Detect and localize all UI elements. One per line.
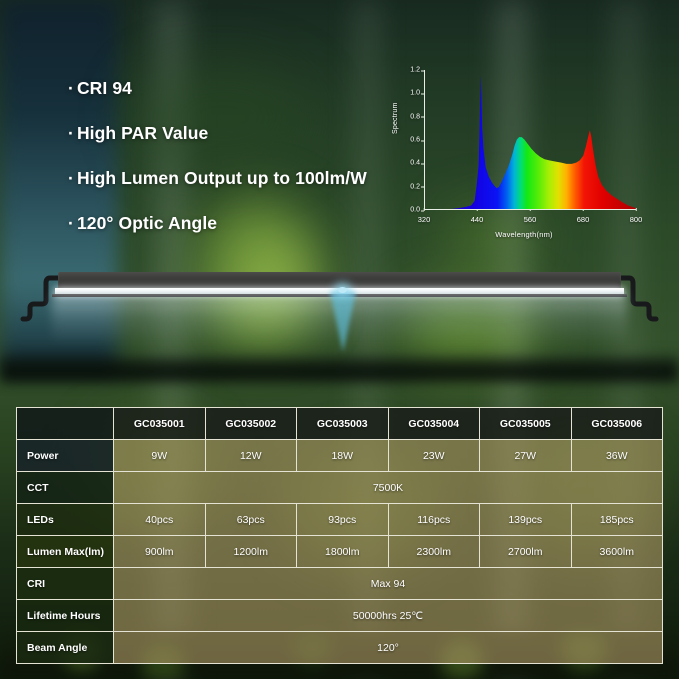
- row-label: Power: [17, 440, 114, 472]
- bullet-dot-icon: ·: [68, 213, 74, 233]
- table-cell-merged: 50000hrs 25℃: [114, 600, 663, 632]
- table-col-header-gc035001: GC035001: [114, 408, 206, 440]
- table-row-leds: LEDs 40pcs 63pcs 93pcs 116pcs 139pcs 185…: [17, 504, 663, 536]
- spectrum-curve: [425, 70, 636, 209]
- table-cell-merged: 120°: [114, 632, 663, 664]
- product-infographic: ·CRI 94 ·High PAR Value ·High Lumen Outp…: [0, 0, 679, 679]
- row-label: CCT: [17, 472, 114, 504]
- light-beam-cone: [330, 292, 356, 352]
- table-header-row: GC035001 GC035002 GC035003 GC035004 GC03…: [17, 408, 663, 440]
- chart-y-tick: 1.2: [410, 67, 420, 74]
- table-cell: 36W: [571, 440, 663, 472]
- specification-table: GC035001 GC035002 GC035003 GC035004 GC03…: [16, 407, 663, 664]
- table-cell: 40pcs: [114, 504, 206, 536]
- row-label: Lumen Max(lm): [17, 536, 114, 568]
- table-row-beam-angle: Beam Angle 120°: [17, 632, 663, 664]
- row-label: Beam Angle: [17, 632, 114, 664]
- feature-text: High Lumen Output up to 100lm/W: [77, 168, 367, 188]
- chart-plot-area: 0.0 0.2 0.4 0.6 0.8 1.0 1.2 320 440 560 …: [424, 70, 636, 210]
- chart-y-axis-label: Spectrum: [392, 102, 399, 134]
- table-row-cri: CRI Max 94: [17, 568, 663, 600]
- chart-x-tick: 560: [524, 215, 537, 224]
- table-cell: 93pcs: [297, 504, 389, 536]
- light-beam-source: [338, 287, 347, 293]
- chart-y-tick: 0.8: [410, 113, 420, 120]
- chart-x-tick: 800: [630, 215, 643, 224]
- table-cell: 23W: [388, 440, 480, 472]
- table-cell: 1800lm: [297, 536, 389, 568]
- chart-x-tick: 680: [577, 215, 590, 224]
- spectrum-chart: Spectrum 0.0 0.2 0.4 0.6 0.8 1.0 1.2 320…: [396, 66, 652, 238]
- chart-y-tick: 0.6: [410, 137, 420, 144]
- table-row-power: Power 9W 12W 18W 23W 27W 36W: [17, 440, 663, 472]
- table-cell: 185pcs: [571, 504, 663, 536]
- table-cell: 63pcs: [205, 504, 297, 536]
- table-cell: 116pcs: [388, 504, 480, 536]
- chart-y-tick: 0.0: [410, 207, 420, 214]
- row-label: Lifetime Hours: [17, 600, 114, 632]
- feature-item-optic-angle: ·120° Optic Angle: [68, 213, 398, 234]
- table-cell: 9W: [114, 440, 206, 472]
- table-cell: 2300lm: [388, 536, 480, 568]
- feature-item-cri: ·CRI 94: [68, 78, 398, 99]
- bullet-dot-icon: ·: [68, 78, 74, 98]
- feature-item-par: ·High PAR Value: [68, 123, 398, 144]
- table-col-header-gc035005: GC035005: [480, 408, 572, 440]
- chart-x-tick: 320: [418, 215, 431, 224]
- table-cell-merged: 7500K: [114, 472, 663, 504]
- feature-item-lumen: ·High Lumen Output up to 100lm/W: [68, 168, 398, 189]
- row-label: CRI: [17, 568, 114, 600]
- table-col-header-gc035002: GC035002: [205, 408, 297, 440]
- chart-y-tick: 1.0: [410, 90, 420, 97]
- bullet-dot-icon: ·: [68, 123, 74, 143]
- table-cell: 12W: [205, 440, 297, 472]
- table-cell: 900lm: [114, 536, 206, 568]
- table-col-header-gc035006: GC035006: [571, 408, 663, 440]
- chart-y-tick: 0.4: [410, 160, 420, 167]
- table-col-header-gc035004: GC035004: [388, 408, 480, 440]
- feature-list: ·CRI 94 ·High PAR Value ·High Lumen Outp…: [68, 78, 398, 258]
- row-label: LEDs: [17, 504, 114, 536]
- table-cell: 2700lm: [480, 536, 572, 568]
- feature-text: 120° Optic Angle: [77, 213, 217, 233]
- feature-text: CRI 94: [77, 78, 132, 98]
- table-cell: 139pcs: [480, 504, 572, 536]
- table-row-lifetime-hours: Lifetime Hours 50000hrs 25℃: [17, 600, 663, 632]
- table-row-lumen-max: Lumen Max(lm) 900lm 1200lm 1800lm 2300lm…: [17, 536, 663, 568]
- table-cell: 18W: [297, 440, 389, 472]
- led-light-bar-fixture: [0, 262, 679, 372]
- table-corner-cell: [17, 408, 114, 440]
- table-cell: 1200lm: [205, 536, 297, 568]
- feature-text: High PAR Value: [77, 123, 208, 143]
- table-cell-merged: Max 94: [114, 568, 663, 600]
- table-cell: 3600lm: [571, 536, 663, 568]
- chart-x-axis-label: Wavelength(nm): [396, 230, 652, 239]
- table-row-cct: CCT 7500K: [17, 472, 663, 504]
- chart-y-tick: 0.2: [410, 183, 420, 190]
- chart-x-tick: 440: [471, 215, 484, 224]
- bullet-dot-icon: ·: [68, 168, 74, 188]
- table-cell: 27W: [480, 440, 572, 472]
- table-col-header-gc035003: GC035003: [297, 408, 389, 440]
